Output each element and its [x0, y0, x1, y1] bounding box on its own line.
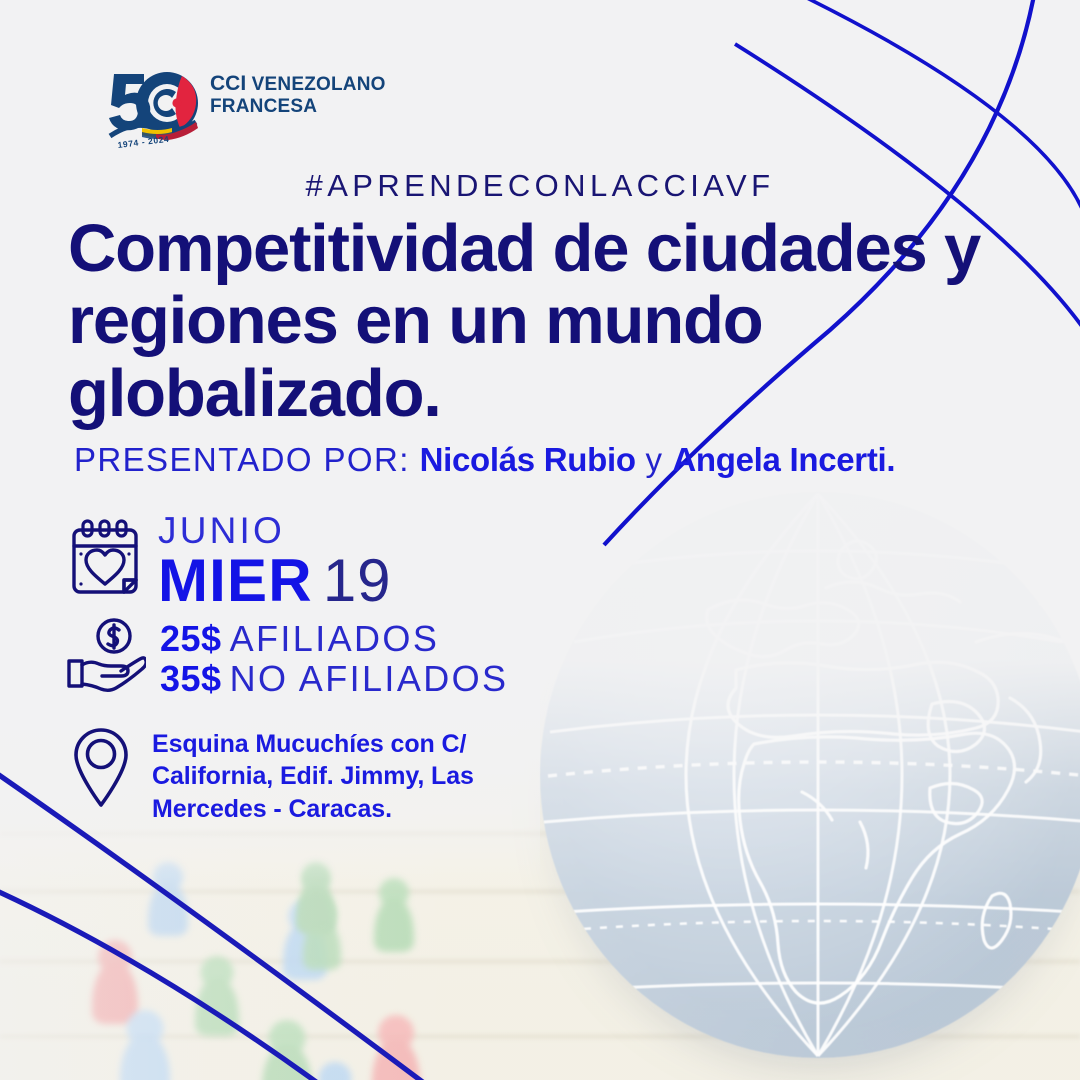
speaker-two: Angela Incerti. [672, 441, 895, 478]
game-pawn [262, 1020, 312, 1080]
date-row: JUNIO MIER19 [66, 516, 508, 611]
cci-logo[interactable]: 1974 - 2024 CCI VENEZOLANOFRANCESA [104, 58, 386, 150]
title-line-1: Competitividad de ciudades y [68, 213, 1028, 285]
anniversary-years: 1974 - 2024 [117, 134, 170, 150]
calendar-heart-icon [66, 516, 144, 605]
game-pawn [120, 1010, 170, 1080]
logo-wordmark: CCI VENEZOLANOFRANCESA [210, 72, 386, 117]
event-day-line: MIER19 [158, 551, 392, 611]
presenter-label: PRESENTADO POR: [74, 441, 410, 478]
price-affiliate-label: AFILIADOS [230, 618, 440, 659]
game-pawn [374, 878, 414, 952]
date-text: JUNIO MIER19 [158, 512, 392, 611]
game-pawn [372, 1015, 420, 1080]
map-pin-icon [66, 722, 136, 815]
globe-image [540, 492, 1080, 1058]
hand-holding-coin-icon [66, 617, 146, 698]
price-text: 25$AFILIADOS 35$NO AFILIADOS [160, 619, 508, 700]
location-row: Esquina Mucuchíes con C/ California, Edi… [66, 722, 508, 826]
event-month: JUNIO [158, 512, 392, 549]
event-details: JUNIO MIER19 25$AFILIA [66, 516, 508, 825]
title-line-2: regiones en un mundo [68, 285, 1028, 357]
presenter-conjunction: y [645, 441, 662, 478]
price-affiliate-amount: 25$ [160, 618, 222, 659]
logo-50-anniversary-icon: 1974 - 2024 [104, 58, 200, 150]
game-pawn [148, 862, 188, 936]
price-non-affiliate-label: NO AFILIADOS [230, 658, 509, 699]
event-day-number: 19 [323, 547, 392, 614]
presenter-line: PRESENTADO POR: Nicolás Rubio y Angela I… [74, 441, 895, 479]
price-non-affiliate-amount: 35$ [160, 658, 222, 699]
hashtag: #APRENDECONLACCIAVF [0, 168, 1080, 204]
price-non-affiliate: 35$NO AFILIADOS [160, 659, 508, 699]
page-title: Competitividad de ciudades y regiones en… [68, 213, 1028, 430]
event-weekday: MIER [158, 547, 313, 614]
game-pawn [195, 956, 239, 1036]
price-row: 25$AFILIADOS 35$NO AFILIADOS [66, 617, 508, 700]
logo-line2: FRANCESA [210, 96, 317, 117]
price-affiliate: 25$AFILIADOS [160, 619, 508, 659]
logo-line1-rest: VENEZOLANO [246, 74, 385, 95]
game-pawn [313, 1062, 357, 1080]
title-line-3: globalizado. [68, 358, 1028, 430]
logo-lead: CCI [210, 72, 246, 95]
event-flyer: 1974 - 2024 CCI VENEZOLANOFRANCESA #APRE… [0, 0, 1080, 1080]
event-address: Esquina Mucuchíes con C/ California, Edi… [152, 728, 474, 826]
game-pawn [298, 868, 334, 934]
speaker-one: Nicolás Rubio [420, 441, 636, 478]
